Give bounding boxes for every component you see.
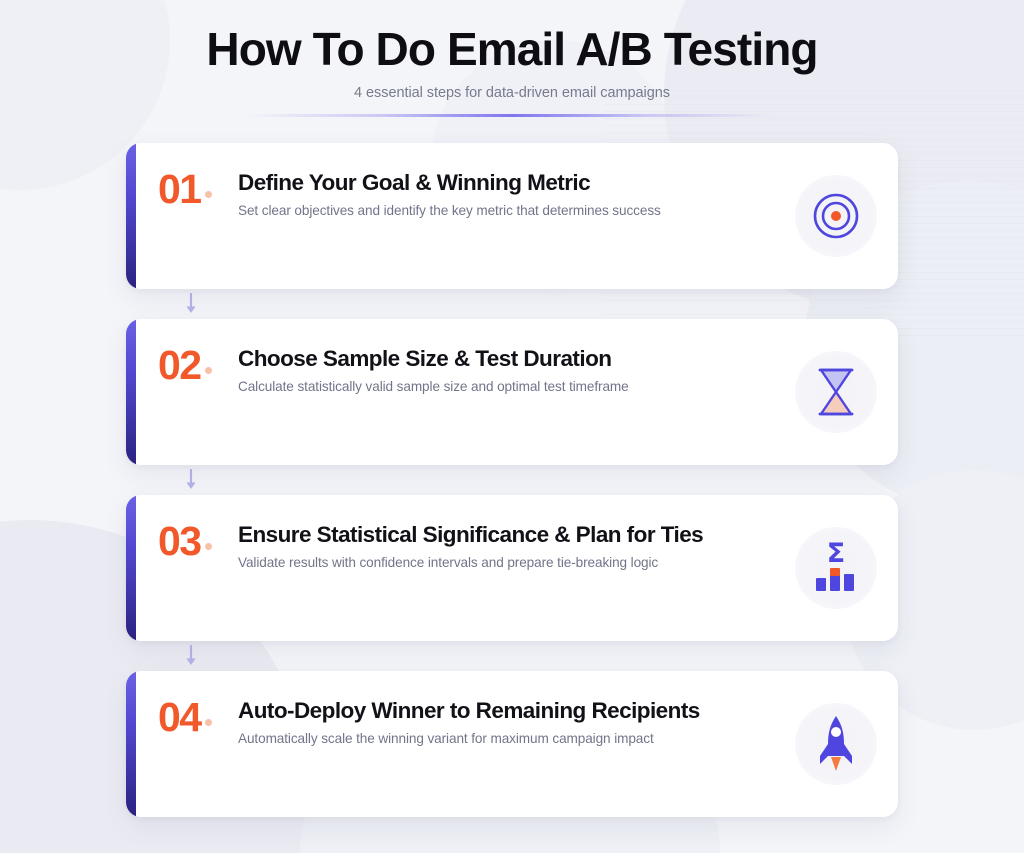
arrow-down-icon [184, 469, 198, 491]
target-bullseye-icon [808, 188, 864, 244]
step-text-group: Ensure Statistical Significance & Plan f… [238, 495, 790, 571]
step-title: Ensure Statistical Significance & Plan f… [238, 522, 780, 549]
step-text-group: Auto-Deploy Winner to Remaining Recipien… [238, 671, 790, 747]
step-card[interactable]: 04 Auto-Deploy Winner to Remaining Recip… [126, 671, 898, 817]
step-card[interactable]: 02 Choose Sample Size & Test Duration Ca… [126, 319, 898, 465]
step-icon-slot [790, 143, 898, 289]
step-card[interactable]: 03 Ensure Statistical Significance & Pla… [126, 495, 898, 641]
step-accent-bar [126, 143, 136, 289]
page-title: How To Do Email A/B Testing [0, 24, 1024, 76]
step-item-02: 02 Choose Sample Size & Test Duration Ca… [126, 319, 898, 495]
step-text-group: Define Your Goal & Winning Metric Set cl… [238, 143, 790, 219]
sigma-symbol: Σ [827, 543, 845, 566]
step-description: Validate results with confidence interva… [238, 555, 780, 570]
step-accent-bar [126, 671, 136, 817]
bar-chart-icon [814, 566, 858, 592]
step-number: 03 [158, 521, 200, 562]
step-item-01: 01 Define Your Goal & Winning Metric Set… [126, 143, 898, 319]
steps-list: 01 Define Your Goal & Winning Metric Set… [126, 143, 898, 817]
step-item-04: 04 Auto-Deploy Winner to Remaining Recip… [126, 671, 898, 817]
step-number-dot-icon [205, 367, 212, 374]
step-connector-2 [126, 465, 898, 495]
step-description: Automatically scale the winning variant … [238, 731, 780, 746]
step-number: 04 [158, 697, 200, 738]
step-text-group: Choose Sample Size & Test Duration Calcu… [238, 319, 790, 395]
header: How To Do Email A/B Testing 4 essential … [0, 0, 1024, 117]
step-icon-slot [790, 671, 898, 817]
step-description: Set clear objectives and identify the ke… [238, 203, 780, 218]
step-icon-slot [790, 319, 898, 465]
sigma-bar-chart-icon: Σ [814, 543, 858, 592]
hourglass-icon [813, 364, 859, 420]
icon-bubble [795, 351, 877, 433]
infographic-canvas: How To Do Email A/B Testing 4 essential … [0, 0, 1024, 853]
step-description: Calculate statistically valid sample siz… [238, 379, 780, 394]
icon-bubble: Σ [795, 527, 877, 609]
step-number-group: 03 [126, 495, 238, 562]
arrow-down-icon [184, 645, 198, 667]
step-accent-bar [126, 495, 136, 641]
step-number: 01 [158, 169, 200, 210]
step-number: 02 [158, 345, 200, 386]
step-item-03: 03 Ensure Statistical Significance & Pla… [126, 495, 898, 671]
icon-bubble [795, 703, 877, 785]
step-number-group: 02 [126, 319, 238, 386]
icon-bubble [795, 175, 877, 257]
step-title: Choose Sample Size & Test Duration [238, 346, 780, 373]
step-connector-3 [126, 641, 898, 671]
step-card[interactable]: 01 Define Your Goal & Winning Metric Set… [126, 143, 898, 289]
step-accent-bar [126, 319, 136, 465]
rocket-icon [814, 714, 858, 774]
step-number-group: 01 [126, 143, 238, 210]
header-divider [247, 114, 777, 117]
page-subtitle: 4 essential steps for data-driven email … [0, 85, 1024, 101]
step-number-dot-icon [205, 719, 212, 726]
arrow-down-icon [184, 293, 198, 315]
step-title: Define Your Goal & Winning Metric [238, 170, 780, 197]
step-icon-slot: Σ [790, 495, 898, 641]
step-number-group: 04 [126, 671, 238, 738]
step-title: Auto-Deploy Winner to Remaining Recipien… [238, 698, 780, 725]
step-connector-1 [126, 289, 898, 319]
step-number-dot-icon [205, 543, 212, 550]
step-number-dot-icon [205, 191, 212, 198]
